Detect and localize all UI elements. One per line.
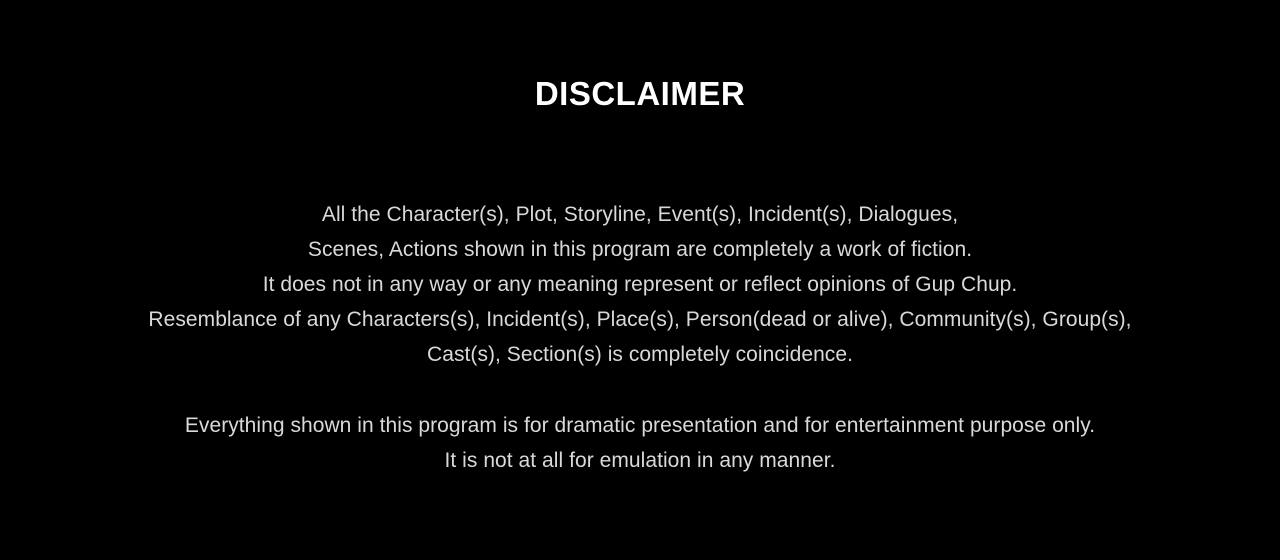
page-title: DISCLAIMER <box>535 74 745 114</box>
disclaimer-line: Resemblance of any Characters(s), Incide… <box>0 302 1280 337</box>
disclaimer-screen: DISCLAIMER All the Character(s), Plot, S… <box>0 0 1280 560</box>
paragraph-entertainment-notice: Everything shown in this program is for … <box>0 408 1280 478</box>
disclaimer-line: Everything shown in this program is for … <box>0 408 1280 443</box>
disclaimer-line: All the Character(s), Plot, Storyline, E… <box>0 197 1280 232</box>
disclaimer-body: All the Character(s), Plot, Storyline, E… <box>0 197 1280 478</box>
disclaimer-line: It does not in any way or any meaning re… <box>0 267 1280 302</box>
disclaimer-line: Cast(s), Section(s) is completely coinci… <box>0 337 1280 372</box>
disclaimer-line: Scenes, Actions shown in this program ar… <box>0 232 1280 267</box>
disclaimer-line: It is not at all for emulation in any ma… <box>0 443 1280 478</box>
paragraph-spacer <box>0 372 1280 408</box>
page-title-container: DISCLAIMER <box>0 74 1280 114</box>
paragraph-fiction-notice: All the Character(s), Plot, Storyline, E… <box>0 197 1280 372</box>
